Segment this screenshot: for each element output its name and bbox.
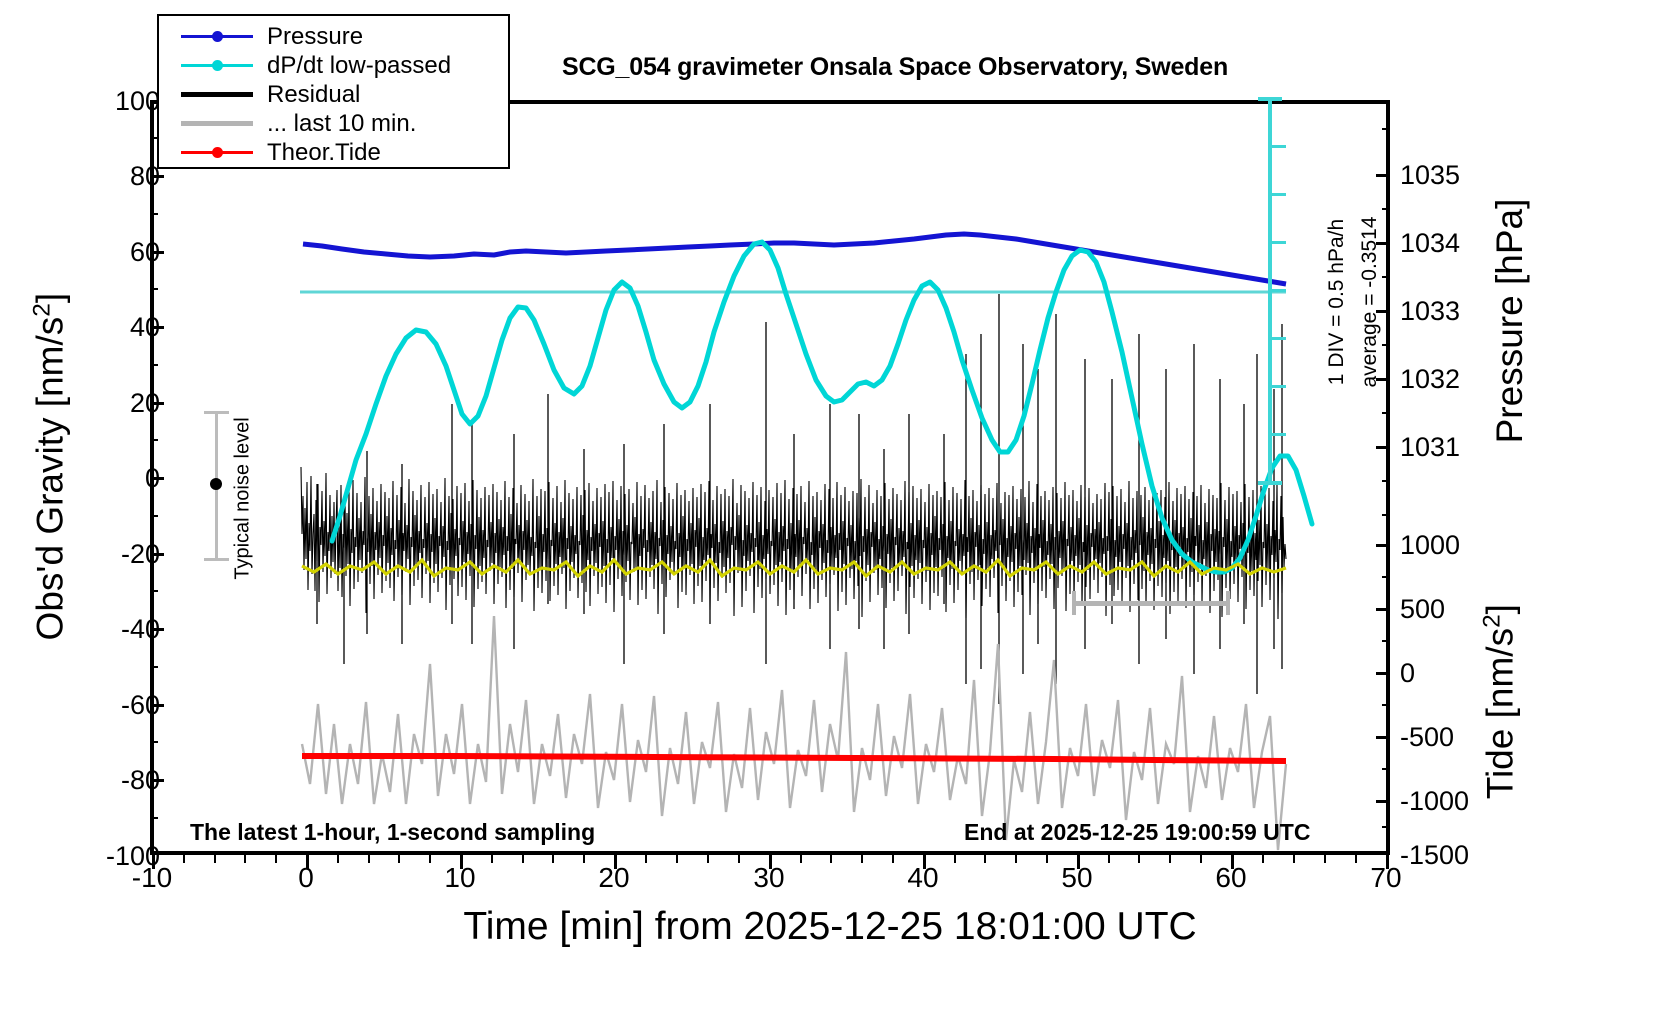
noise-level-cap-top [204, 411, 229, 414]
last10min-span-cap-left [1072, 591, 1076, 615]
legend-swatch-pressure [181, 28, 253, 46]
dpdt-scale-cap-bottom [1258, 481, 1282, 485]
last10min-span-cap-right [1226, 591, 1230, 615]
dpdt-scale-division-label: 1 DIV = 0.5 hPa/h [1325, 187, 1349, 417]
legend-label: Residual [267, 81, 360, 109]
legend-swatch-residual [181, 86, 253, 104]
ytick-left: 20 [40, 388, 160, 419]
legend-swatch-theortide [181, 144, 253, 162]
legend-label: Theor.Tide [267, 139, 381, 167]
theor-tide-trace [302, 756, 1286, 761]
legend-item-residual[interactable]: Residual [159, 80, 508, 109]
legend-item-theortide[interactable]: Theor.Tide [159, 138, 508, 167]
ytick-left: 40 [40, 312, 160, 343]
ytick-left: 0 [40, 463, 160, 494]
legend-swatch-dpdt [181, 57, 253, 75]
y-axis-label-tide-sup: 2 [1478, 614, 1505, 628]
legend-label: dP/dt low-passed [267, 52, 451, 80]
ytick-left: -40 [40, 614, 160, 645]
legend[interactable]: Pressure dP/dt low-passed Residual ... l… [157, 14, 510, 169]
legend-label: Pressure [267, 23, 363, 51]
footer-note-left: The latest 1-hour, 1-second sampling [190, 819, 595, 846]
ytick-left: 100 [40, 86, 160, 117]
noise-level-cap-bottom [204, 558, 229, 561]
legend-item-pressure[interactable]: Pressure [159, 22, 508, 51]
ytick-left: -60 [40, 690, 160, 721]
footer-note-right: End at 2025-12-25 19:00:59 UTC [964, 819, 1310, 846]
y-axis-label-tide-tail: ] [1480, 604, 1521, 614]
last10min-span-bar [1074, 601, 1230, 606]
ytick-left: 80 [40, 161, 160, 192]
noise-level-label: Typical noise level [232, 399, 255, 599]
legend-item-last10min[interactable]: ... last 10 min. [159, 109, 508, 138]
plot-area: Typical noise level The latest 1-hour, 1… [154, 104, 1386, 851]
dpdt-scale-cap-top [1258, 97, 1282, 101]
x-axis-label: Time [min] from 2025-12-25 18:01:00 UTC [0, 905, 1660, 949]
ytick-left: 60 [40, 237, 160, 268]
pressure-trace [303, 234, 1286, 284]
y-axis-label-tide-head: Tide [nm/s [1480, 628, 1521, 799]
legend-item-dpdt[interactable]: dP/dt low-passed [159, 51, 508, 80]
plot-traces [154, 104, 1386, 851]
y-axis-label-pressure: Pressure [hPa] [1489, 111, 1531, 531]
y-axis-label-left-tail: ] [30, 293, 71, 303]
dpdt-average-label: average = -0.3514 [1358, 187, 1382, 417]
y-axis-label-tide: Tide [nm/s2] [1478, 502, 1521, 902]
chart-root: SCG_054 gravimeter Onsala Space Observat… [0, 0, 1660, 1020]
noise-level-dot [210, 478, 222, 490]
ytick-left: -80 [40, 765, 160, 796]
legend-swatch-last10min [181, 115, 253, 133]
legend-label: ... last 10 min. [267, 110, 416, 138]
ytick-left: -20 [40, 539, 160, 570]
